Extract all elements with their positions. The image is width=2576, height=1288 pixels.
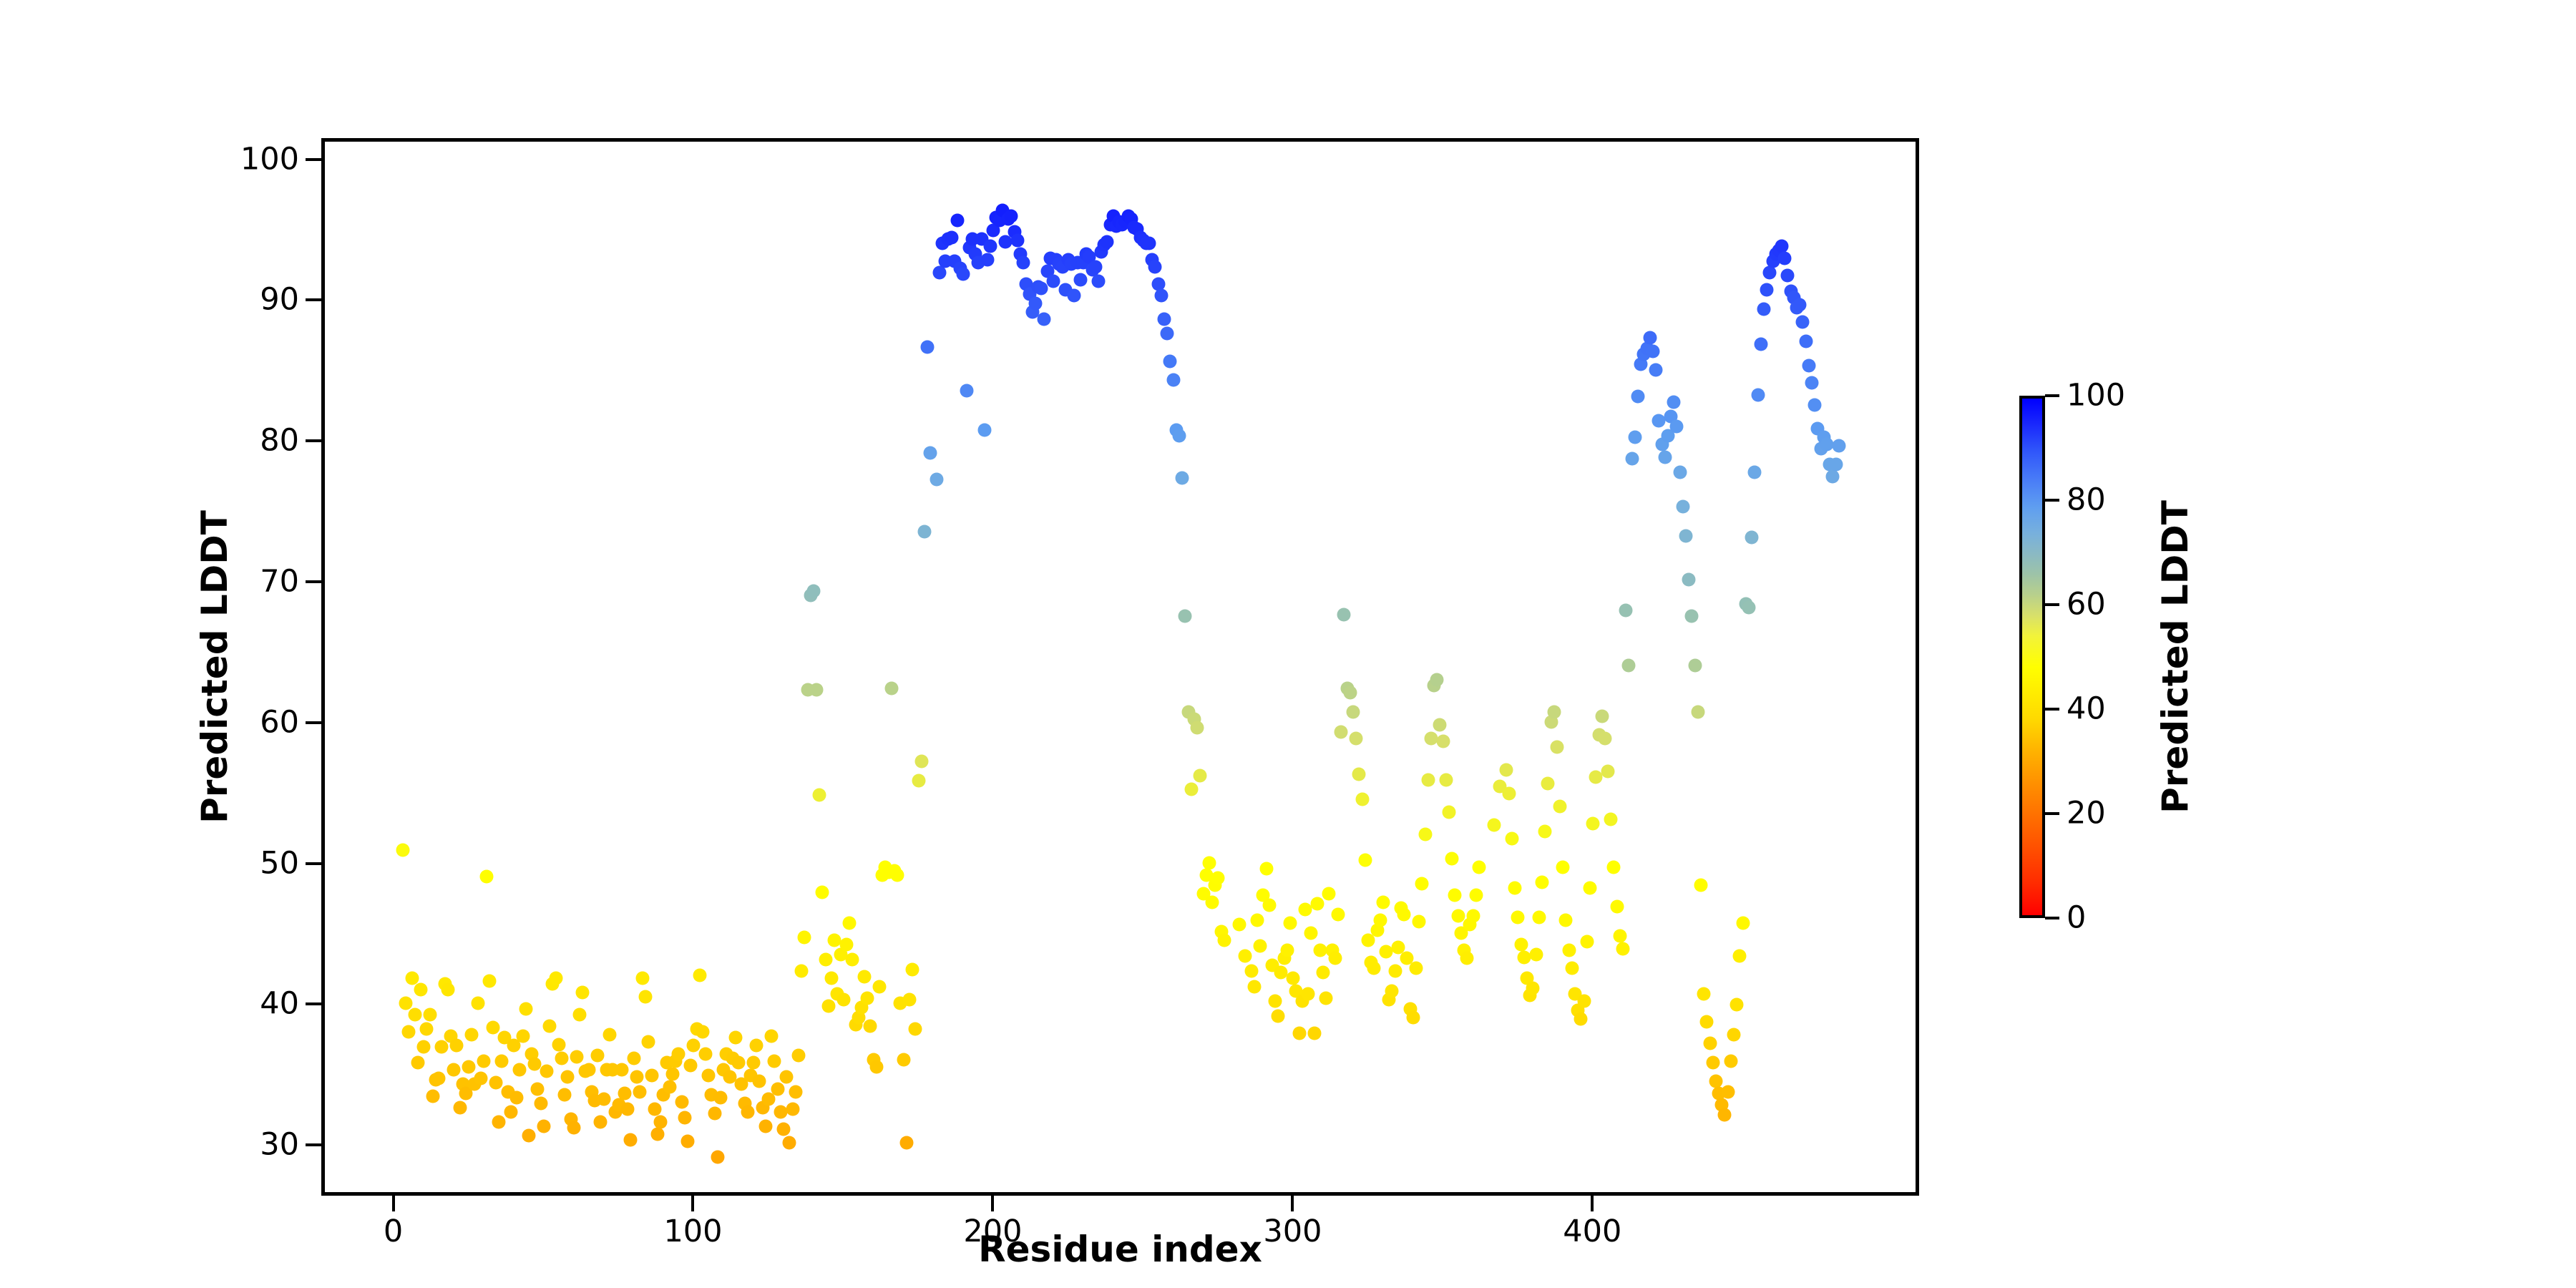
scatter-point [411, 1056, 424, 1070]
scatter-point [1319, 991, 1333, 1005]
scatter-point [1631, 390, 1645, 404]
scatter-point [675, 1096, 688, 1109]
scatter-point [1217, 933, 1231, 947]
scatter-point [537, 1119, 550, 1133]
scatter-point [1337, 608, 1351, 622]
scatter-point [486, 1020, 499, 1034]
scatter-point [1038, 312, 1051, 326]
scatter-point [516, 1029, 530, 1043]
scatter-point [747, 1056, 761, 1070]
scatter-point [1646, 345, 1659, 358]
scatter-point [1565, 962, 1579, 975]
scatter-point [1460, 952, 1474, 965]
scatter-point [1718, 1108, 1732, 1121]
scatter-point [1670, 419, 1684, 433]
scatter-point [1574, 1013, 1588, 1026]
scatter-point [1730, 998, 1744, 1012]
scatter-point [839, 937, 853, 951]
scatter-point [477, 1055, 491, 1068]
scatter-point [1622, 659, 1636, 673]
scatter-point [930, 473, 943, 487]
scatter-point [1472, 860, 1485, 874]
scatter-point [776, 1122, 790, 1136]
scatter-point [758, 1119, 772, 1133]
scatter-point [714, 1091, 728, 1105]
scatter-point [1706, 1056, 1719, 1070]
y-tick-label: 40 [260, 989, 299, 1020]
scatter-point [1709, 1074, 1722, 1088]
scatter-point [861, 991, 874, 1005]
scatter-point [558, 1088, 572, 1102]
x-tick-mark [1291, 1196, 1294, 1211]
colorbar-tick-label: 0 [2067, 903, 2086, 934]
scatter-point [1191, 721, 1204, 734]
scatter-point [1748, 466, 1762, 479]
colorbar-label: Predicted LDDT [2155, 500, 2196, 814]
y-tick-mark [306, 158, 321, 161]
scatter-point [1439, 773, 1453, 786]
scatter-point [621, 1103, 635, 1116]
scatter-point [741, 1105, 754, 1118]
scatter-point [453, 1101, 467, 1115]
x-tick-mark [691, 1196, 694, 1211]
scatter-point [1676, 499, 1689, 513]
scatter-point [513, 1063, 527, 1076]
y-tick-mark [306, 439, 321, 442]
scatter-point [576, 985, 590, 999]
y-tick-mark [306, 1002, 321, 1005]
scatter-point [1682, 573, 1696, 587]
y-tick-label: 90 [260, 285, 299, 316]
scatter-point [708, 1106, 721, 1120]
scatter-point [423, 1008, 436, 1022]
scatter-point [648, 1103, 661, 1116]
scatter-point [1583, 882, 1596, 895]
scatter-point [1211, 872, 1225, 885]
scatter-point [1535, 876, 1548, 889]
colorbar-gradient [2019, 396, 2045, 918]
scatter-point [1610, 899, 1624, 913]
scatter-point [753, 1074, 766, 1088]
scatter-point [504, 1105, 517, 1118]
scatter-point [917, 525, 931, 539]
scatter-point [819, 953, 832, 967]
scatter-point [1436, 735, 1450, 748]
scatter-point [1733, 949, 1747, 962]
scatter-point [594, 1115, 608, 1128]
scatter-point [582, 1063, 595, 1076]
scatter-point [864, 1019, 877, 1033]
scatter-point [1805, 376, 1818, 389]
scatter-point [591, 1049, 605, 1063]
scatter-point [1143, 236, 1156, 250]
y-tick-label: 70 [260, 566, 299, 597]
scatter-point [1700, 1015, 1714, 1029]
scatter-point [1448, 888, 1462, 902]
scatter-point [1796, 315, 1810, 328]
scatter-point [1643, 331, 1657, 344]
scatter-point [1239, 949, 1252, 962]
scatter-point [1176, 472, 1189, 485]
scatter-point [789, 1085, 802, 1099]
scatter-point [791, 1049, 805, 1063]
scatter-point [1250, 914, 1264, 927]
scatter-point [1742, 601, 1756, 615]
scatter-point [1604, 812, 1618, 826]
scatter-point [1335, 725, 1348, 738]
scatter-point [597, 1093, 610, 1106]
scatter-point [1406, 1011, 1420, 1025]
scatter-point [1184, 783, 1198, 796]
scatter-point [980, 253, 994, 267]
scatter-point [441, 982, 454, 996]
scatter-point [869, 1060, 883, 1074]
scatter-point [1202, 856, 1216, 869]
scatter-point [603, 1028, 617, 1041]
scatter-point [1443, 805, 1456, 819]
scatter-point [1154, 288, 1168, 302]
scatter-point [1508, 882, 1522, 895]
scatter-point [1206, 895, 1219, 909]
scatter-point [1373, 914, 1387, 927]
scatter-point [1799, 335, 1813, 348]
plot-axes [321, 138, 1919, 1196]
scatter-point [1397, 908, 1411, 922]
scatter-point [1307, 1026, 1321, 1040]
scatter-point [1385, 984, 1399, 997]
scatter-point [1703, 1036, 1717, 1050]
scatter-point [1413, 915, 1426, 929]
scatter-point [1292, 1026, 1306, 1040]
scatter-point [408, 1008, 421, 1022]
scatter-point [1802, 358, 1815, 372]
scatter-point [1727, 1028, 1741, 1041]
scatter-point [843, 917, 857, 930]
scatter-point [899, 1136, 913, 1150]
scatter-point [522, 1129, 535, 1143]
scatter-point [1751, 389, 1765, 402]
scatter-point [1358, 853, 1372, 867]
scatter-point [570, 1050, 583, 1064]
scatter-point [1073, 273, 1087, 286]
scatter-point [1538, 825, 1552, 839]
scatter-point [1028, 297, 1042, 311]
scatter-point [534, 1097, 547, 1111]
scatter-point [693, 969, 706, 982]
scatter-point [680, 1135, 694, 1148]
y-tick-label: 80 [260, 426, 299, 457]
scatter-point [1091, 274, 1105, 288]
scatter-point [1688, 659, 1702, 673]
scatter-point [561, 1070, 575, 1083]
scatter-point [1595, 709, 1609, 723]
scatter-point [1556, 860, 1570, 874]
scatter-point [489, 1075, 502, 1089]
scatter-point [1232, 918, 1246, 932]
scatter-point [555, 1052, 568, 1065]
scatter-point [1328, 952, 1342, 965]
x-tick-mark [392, 1196, 395, 1211]
scatter-point [771, 1083, 784, 1096]
scatter-point [651, 1128, 665, 1141]
scatter-point [435, 1040, 449, 1054]
y-tick-mark [306, 721, 321, 724]
scatter-point [684, 1059, 698, 1073]
scatter-point [618, 1087, 631, 1101]
scatter-point [687, 1039, 701, 1053]
scatter-point [1562, 943, 1576, 957]
scatter-point [1667, 396, 1681, 409]
scatter-point [836, 992, 850, 1006]
y-tick-label: 100 [240, 144, 299, 175]
scatter-point [783, 1136, 796, 1150]
scatter-point [1679, 530, 1693, 543]
scatter-point [1376, 895, 1390, 909]
scatter-point [884, 681, 898, 695]
scatter-point [432, 1071, 446, 1085]
scatter-point [816, 885, 829, 899]
scatter-point [780, 1070, 794, 1083]
scatter-point [1736, 917, 1750, 930]
scatter-point [540, 1064, 554, 1078]
scatter-point [1685, 610, 1699, 623]
scatter-point [1367, 962, 1381, 975]
scatter-point [1613, 929, 1626, 942]
scatter-point [921, 341, 935, 354]
scatter-point [636, 972, 650, 985]
scatter-point [1047, 274, 1060, 288]
scatter-point [1194, 769, 1207, 782]
scatter-point [1088, 260, 1102, 274]
scatter-point [510, 1091, 524, 1105]
scatter-point [1010, 233, 1024, 247]
scatter-point [1511, 911, 1525, 924]
scatter-point [786, 1103, 799, 1116]
scatter-point [1272, 1010, 1285, 1023]
scatter-point [891, 869, 904, 882]
scatter-point [1829, 457, 1843, 471]
colorbar-tick-mark [2045, 603, 2059, 606]
scatter-point [1487, 818, 1501, 831]
scatter-point [825, 972, 839, 985]
colorbar [2019, 396, 2045, 918]
scatter-point [873, 980, 887, 993]
y-tick-mark [306, 580, 321, 583]
scatter-point [1697, 987, 1711, 1000]
scatter-point [402, 1025, 416, 1038]
scatter-point [702, 1068, 716, 1082]
y-tick-mark [306, 298, 321, 301]
scatter-point [480, 870, 494, 884]
scatter-point [1017, 256, 1030, 270]
scatter-point [531, 1083, 545, 1096]
colorbar-tick-mark [2045, 812, 2059, 815]
scatter-point [1628, 431, 1641, 444]
scatter-point [567, 1121, 580, 1134]
scatter-point [1658, 450, 1672, 464]
scatter-point [1005, 210, 1018, 223]
scatter-point [1832, 439, 1845, 453]
scatter-point [1793, 298, 1807, 312]
scatter-point [492, 1115, 505, 1128]
scatter-point [1616, 942, 1630, 955]
scatter-point [1601, 764, 1615, 778]
scatter-points-layer [325, 142, 1916, 1192]
scatter-point [909, 1022, 922, 1035]
colorbar-tick-mark [2045, 708, 2059, 711]
scatter-point [645, 1068, 658, 1082]
scatter-point [1754, 338, 1767, 351]
scatter-point [1262, 898, 1276, 912]
scatter-point [1514, 937, 1528, 951]
scatter-point [984, 239, 997, 253]
scatter-point [1322, 887, 1336, 900]
scatter-point [663, 1080, 676, 1093]
scatter-point [1421, 773, 1435, 786]
scatter-point [1247, 980, 1261, 993]
scatter-point [1745, 531, 1759, 545]
scatter-point [1502, 787, 1516, 801]
scatter-point [768, 1055, 781, 1068]
scatter-point [1280, 943, 1294, 957]
scatter-point [483, 974, 497, 987]
colorbar-tick-label: 40 [2067, 694, 2106, 725]
scatter-point [1673, 466, 1687, 479]
scatter-point [798, 930, 811, 944]
scatter-point [1148, 260, 1162, 274]
scatter-point [806, 584, 820, 597]
scatter-point [1724, 1055, 1737, 1068]
scatter-point [902, 992, 916, 1006]
scatter-point [654, 1115, 668, 1128]
scatter-point [945, 230, 958, 244]
scatter-point [906, 963, 919, 977]
scatter-point [1506, 832, 1519, 846]
scatter-point [627, 1052, 640, 1065]
scatter-point [1409, 962, 1423, 975]
scatter-point [1550, 741, 1563, 754]
y-axis-label: Predicted LDDT [194, 510, 235, 824]
scatter-point [1317, 966, 1330, 980]
scatter-point [1355, 793, 1369, 806]
scatter-point [1466, 909, 1480, 923]
scatter-point [543, 1019, 557, 1033]
colorbar-tick-label: 60 [2067, 590, 2106, 620]
scatter-point [1445, 852, 1459, 865]
scatter-point [426, 1090, 439, 1103]
y-tick-label: 50 [260, 848, 299, 879]
scatter-point [977, 424, 991, 437]
scatter-point [1166, 373, 1180, 386]
scatter-point [1035, 281, 1048, 295]
scatter-point [1541, 777, 1555, 791]
scatter-point [624, 1133, 638, 1147]
scatter-point [420, 1022, 434, 1035]
scatter-point [1433, 718, 1447, 731]
scatter-point [1559, 914, 1573, 927]
scatter-point [1577, 994, 1591, 1008]
scatter-point [672, 1048, 686, 1061]
scatter-point [924, 446, 937, 459]
scatter-point [696, 1025, 709, 1038]
x-tick-mark [1591, 1196, 1594, 1211]
colorbar-tick-mark [2045, 499, 2059, 502]
scatter-point [639, 990, 653, 1003]
colorbar-tick-mark [2045, 394, 2059, 397]
scatter-point [1350, 732, 1363, 746]
scatter-point [1287, 972, 1300, 985]
colorbar-tick-label: 80 [2067, 485, 2106, 516]
scatter-point [1173, 429, 1186, 443]
scatter-point [1757, 303, 1770, 316]
scatter-point [630, 1070, 643, 1083]
scatter-point [1254, 939, 1267, 952]
scatter-point [1721, 1085, 1735, 1099]
scatter-point [897, 1053, 910, 1067]
scatter-point [417, 1040, 431, 1054]
scatter-point [1158, 312, 1171, 326]
scatter-point [750, 1039, 763, 1053]
scatter-point [447, 1063, 461, 1076]
scatter-point [765, 1029, 779, 1043]
scatter-point [1580, 935, 1594, 948]
scatter-point [1778, 252, 1792, 265]
scatter-point [795, 965, 809, 978]
scatter-point [678, 1111, 691, 1124]
scatter-point [858, 970, 872, 984]
scatter-point [450, 1039, 464, 1053]
scatter-point [1302, 987, 1315, 1000]
scatter-point [1163, 355, 1177, 369]
x-axis-label: Residue index [321, 1229, 1919, 1270]
scatter-point [1430, 673, 1444, 686]
scatter-point [1179, 610, 1192, 623]
scatter-point [1808, 399, 1822, 412]
scatter-point [471, 997, 484, 1010]
scatter-point [1347, 706, 1360, 719]
scatter-point [950, 214, 964, 228]
colorbar-tick-label: 20 [2067, 799, 2106, 829]
scatter-point [1068, 288, 1081, 302]
scatter-point [1284, 917, 1297, 930]
scatter-point [957, 268, 970, 281]
scatter-point [1781, 268, 1795, 282]
scatter-point [1760, 283, 1774, 296]
scatter-point [1532, 911, 1546, 924]
x-tick-mark [991, 1196, 994, 1211]
scatter-point [615, 1063, 628, 1076]
scatter-point [1649, 363, 1663, 376]
scatter-point [495, 1055, 509, 1068]
scatter-point [1451, 909, 1465, 923]
scatter-point [1694, 879, 1707, 892]
scatter-point [1598, 732, 1611, 746]
y-tick-mark [306, 862, 321, 865]
scatter-point [633, 1085, 646, 1099]
scatter-point [1310, 897, 1324, 910]
scatter-point [1529, 947, 1543, 961]
scatter-point [821, 1000, 835, 1013]
scatter-point [813, 789, 826, 802]
scatter-point [1415, 877, 1429, 891]
scatter-point [396, 843, 409, 857]
figure-canvas: 0100200300400 Residue index 304050607080… [0, 0, 2576, 1288]
scatter-point [549, 972, 562, 985]
scatter-point [1553, 799, 1567, 813]
scatter-point [1586, 816, 1600, 830]
scatter-point [1388, 965, 1402, 978]
scatter-point [810, 683, 824, 696]
